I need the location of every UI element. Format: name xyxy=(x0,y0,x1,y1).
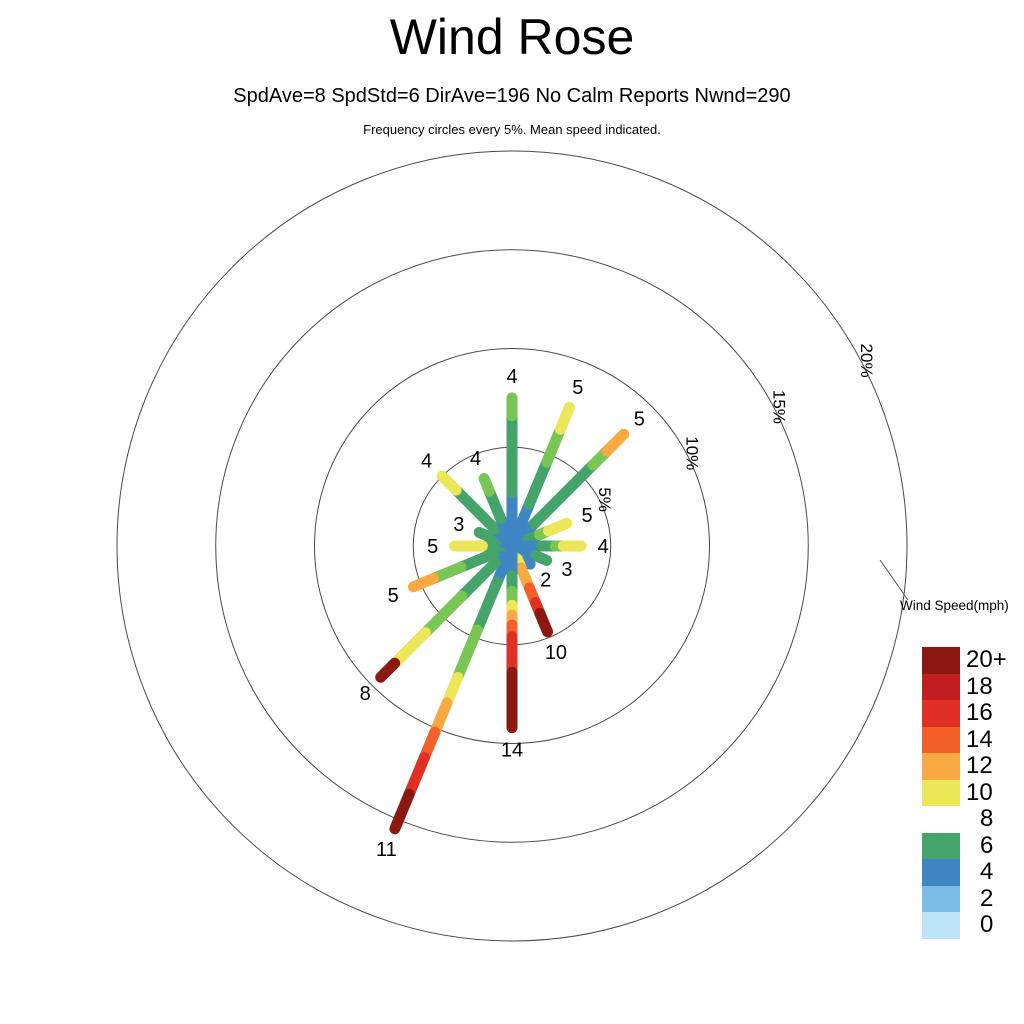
ring-label: 5% xyxy=(595,487,614,512)
mean-speed-label-ene: 5 xyxy=(582,505,593,527)
mean-speed-label-nnw: 4 xyxy=(470,448,481,470)
ring-label: 15% xyxy=(770,390,789,424)
petal-segment xyxy=(560,407,569,429)
mean-speed-label-ne: 5 xyxy=(634,409,645,431)
legend-swatch xyxy=(922,806,960,833)
mean-speed-label-wsw: 5 xyxy=(388,585,399,607)
mean-speed-label-ese: 3 xyxy=(561,559,572,581)
legend-swatch xyxy=(922,700,960,727)
legend-label: 2 xyxy=(966,886,1024,913)
legend-swatch xyxy=(922,859,960,886)
wind-rose-page: Wind Rose SpdAve=8 SpdStd=6 DirAve=196 N… xyxy=(0,0,1024,1024)
legend-label-column: 20+181614121086420 xyxy=(966,647,1024,939)
ring-label: 20% xyxy=(857,344,876,378)
petal-segment xyxy=(536,556,547,561)
wind-petals xyxy=(381,398,624,829)
legend-leader-line xyxy=(880,560,908,600)
mean-speed-label-sse: 10 xyxy=(545,642,567,664)
mean-speed-label-n: 4 xyxy=(506,366,517,388)
legend: Wind Speed(mph) 20+181614121086420 xyxy=(900,598,1024,939)
mean-speed-label-nne: 5 xyxy=(572,377,583,399)
legend-label: 20+ xyxy=(966,647,1024,674)
petal-segment xyxy=(395,794,409,829)
mean-speed-label-se: 2 xyxy=(540,570,551,592)
petal-segment xyxy=(458,630,478,677)
mean-speed-label-nw: 4 xyxy=(421,451,432,473)
legend-label: 8 xyxy=(966,806,1024,833)
petal-segment xyxy=(529,462,546,504)
legend-swatch xyxy=(922,727,960,754)
legend-label: 18 xyxy=(966,674,1024,701)
ring-label: 10% xyxy=(682,436,701,470)
mean-speed-label-ssw: 11 xyxy=(376,839,397,861)
mean-speed-label-w: 5 xyxy=(427,536,438,558)
petal-segment xyxy=(548,523,566,531)
legend-label: 16 xyxy=(966,700,1024,727)
mean-speed-label-sw: 8 xyxy=(360,683,371,705)
legend-label: 12 xyxy=(966,753,1024,780)
legend-label: 14 xyxy=(966,727,1024,754)
legend-label: 4 xyxy=(966,859,1024,886)
legend-label: 10 xyxy=(966,780,1024,807)
mean-speed-label-wnw: 3 xyxy=(453,514,464,536)
legend-title: Wind Speed(mph) xyxy=(900,598,1024,613)
legend-swatch xyxy=(922,912,960,939)
legend-label: 6 xyxy=(966,833,1024,860)
petal-segment xyxy=(484,478,489,491)
legend-swatch xyxy=(922,780,960,807)
legend-swatch xyxy=(922,886,960,913)
legend-swatch-column xyxy=(922,647,960,939)
legend-swatch xyxy=(922,674,960,701)
petal-mean-speed-labels: 4555432101411855344 xyxy=(360,366,645,861)
petal-segment xyxy=(413,578,433,586)
petal-segment xyxy=(395,633,426,664)
legend-label: 0 xyxy=(966,912,1024,939)
petal-segment xyxy=(540,614,548,632)
mean-speed-label-e: 4 xyxy=(598,536,609,558)
petal-segment xyxy=(409,758,424,794)
legend-body: 20+181614121086420 xyxy=(922,647,1024,939)
petal-segment xyxy=(381,663,395,677)
wind-petal-sw xyxy=(381,546,512,677)
petal-segment xyxy=(477,582,497,629)
wind-rose-plot: 5%10%15%20% 4555432101411855344 xyxy=(0,0,1024,1024)
petal-segment xyxy=(442,476,456,490)
legend-swatch xyxy=(922,647,960,674)
mean-speed-label-s: 14 xyxy=(501,740,523,762)
petal-segment xyxy=(607,434,624,451)
legend-swatch xyxy=(922,753,960,780)
legend-swatch xyxy=(922,833,960,860)
